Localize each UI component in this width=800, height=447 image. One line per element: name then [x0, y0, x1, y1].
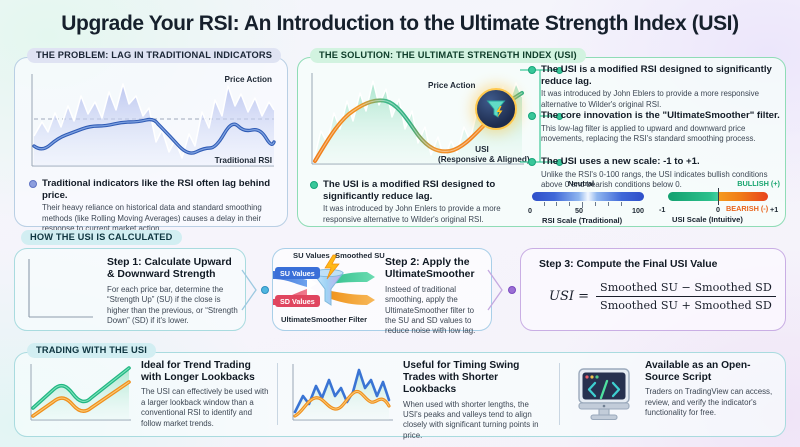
- solution-chart-indicator-sublabel: (Responsive & Aligned): [438, 155, 526, 164]
- usi-scale-bearish-label: BEARISH (-): [726, 204, 768, 213]
- panel-solution: THE SOLUTION: THE ULTIMATE STRENGTH INDE…: [297, 57, 786, 227]
- trading-card-2-head: Useful for Timing Swing Trades with Shor…: [403, 360, 549, 397]
- panel-problem-tag: THE PROBLEM: LAG IN TRADITIONAL INDICATO…: [27, 48, 281, 63]
- usi-formula: USI = Smoothed SU − Smoothed SD Smoothed…: [549, 281, 776, 312]
- step-connector-dot-icon: [261, 286, 269, 294]
- panel-step2: SU Values SU Values SD Values Smoothed S…: [272, 248, 492, 331]
- solution-bullet-2-head: The core innovation is the "UltimateSmoo…: [528, 110, 780, 122]
- usi-scale-bullish-label: BULLISH (+): [737, 179, 780, 188]
- panel-trading-tag: TRADING WITH THE USI: [27, 343, 156, 358]
- bullet-dot-icon: [29, 180, 37, 188]
- bullet-dot-icon: [528, 66, 536, 74]
- solution-bullet-1-body: It was introduced by John Eblers to prov…: [528, 89, 780, 110]
- problem-chart-indicator-label: Traditional RSI: [215, 156, 272, 165]
- solution-chart-indicator-label: USI: [442, 145, 522, 154]
- solution-bullet-2: The core innovation is the "UltimateSmoo…: [528, 110, 780, 144]
- step2-head: Step 2: Apply the UltimateSmoother: [385, 257, 485, 282]
- formula-numerator: Smoothed SU − Smoothed SD: [596, 281, 776, 296]
- funnel-su-outer-label: SU Values: [293, 251, 330, 260]
- trading-card-1-body: The USI can effectively be used with a l…: [141, 387, 269, 428]
- panel-step3: Step 3: Compute the Final USI Value USI …: [520, 248, 786, 331]
- solution-bullet-1-head: The USI is a modified RSI designed to si…: [528, 64, 780, 87]
- trading-card-3: Available as an Open-Source Script Trade…: [571, 360, 783, 419]
- trading-divider-1: [277, 363, 278, 425]
- ultimatesmoother-funnel: SU Values SU Values SD Values Smoothed S…: [271, 253, 381, 329]
- panel-step1: HOW THE USI IS CALCULATED Step 1: Calcul…: [14, 248, 246, 331]
- rsi-scale-caption: RSI Scale (Traditional): [542, 216, 622, 225]
- solution-bullet-1: The USI is a modified RSI designed to si…: [528, 64, 780, 110]
- usi-tick-zero: 0: [716, 205, 720, 214]
- problem-bullet-head: Traditional indicators like the RSI ofte…: [29, 178, 279, 201]
- trading-card-3-head: Available as an Open-Source Script: [645, 360, 783, 384]
- panel-solution-tag: THE SOLUTION: THE ULTIMATE STRENGTH INDE…: [310, 48, 586, 63]
- formula-denominator: Smoothed SU + Smoothed SD: [596, 296, 776, 312]
- problem-chart: Price Action Traditional RSI: [28, 72, 276, 172]
- page-title: Upgrade Your RSI: An Introduction to the…: [0, 12, 800, 36]
- problem-bullet: Traditional indicators like the RSI ofte…: [29, 178, 279, 234]
- usi-scale: BULLISH (+) -1 0 +1 BEARISH (-) USI Scal…: [656, 179, 782, 223]
- funnel-caption: UltimateSmoother Filter: [281, 315, 367, 324]
- step1-body: For each price bar, determine the “Stren…: [107, 285, 239, 326]
- step3-head: Step 3: Compute the Final USI Value: [539, 259, 717, 271]
- step-connector-dot-icon: [508, 286, 516, 294]
- rsi-scale-bar: [532, 192, 644, 201]
- trading-card-2: Useful for Timing Swing Trades with Shor…: [289, 360, 549, 441]
- panel-trading: TRADING WITH THE USI: [14, 352, 786, 437]
- rsi-tick-50: 50: [575, 206, 583, 215]
- code-monitor-icon: [573, 363, 635, 425]
- solution-bullet-3-head: The USI uses a new scale: -1 to +1.: [528, 156, 780, 168]
- trading-card-1-head: Ideal for Trend Trading with Longer Look…: [141, 360, 269, 384]
- step1-card: Step 1: Calculate Upward & Downward Stre…: [107, 257, 239, 326]
- funnel-sd-label: SD Values: [275, 295, 320, 307]
- solution-chart-price-label: Price Action: [428, 81, 475, 90]
- filter-lightning-icon: [475, 88, 517, 130]
- formula-lhs: USI =: [549, 289, 589, 304]
- rsi-tick-0: 0: [528, 206, 532, 215]
- panel-calculated-tag: HOW THE USI IS CALCULATED: [21, 230, 182, 245]
- trading-card-2-body: When used with shorter lengths, the USI'…: [403, 400, 549, 441]
- swing-chart: [289, 362, 395, 428]
- step2-card: Step 2: Apply the UltimateSmoother Inste…: [385, 257, 485, 336]
- trading-divider-2: [559, 363, 560, 425]
- funnel-su-label: SU Values: [275, 267, 320, 279]
- trading-card-3-body: Traders on TradingView can access, revie…: [645, 387, 783, 418]
- trading-card-1: Ideal for Trend Trading with Longer Look…: [27, 360, 269, 429]
- bullet-dot-icon: [528, 158, 536, 166]
- bullet-dot-icon: [310, 181, 318, 189]
- usi-tick-minus1: -1: [659, 205, 665, 214]
- rsi-scale: Neutral 0 50 100 RSI Scale (Traditional): [526, 179, 651, 223]
- step1-axes: [25, 257, 95, 323]
- rsi-tick-100: 100: [632, 206, 644, 215]
- usi-tick-plus1: +1: [770, 205, 778, 214]
- funnel-smoothed-su-label: Smoothed SU: [335, 251, 385, 260]
- step2-body: Insteed of traditional smoothing, apply …: [385, 285, 485, 336]
- solution-inline-bullet-body: It was introduced by John Enlers to prov…: [310, 204, 528, 225]
- solution-bullet-2-body: This low-lag filter is applied to upward…: [528, 124, 780, 145]
- infographic-page: Upgrade Your RSI: An Introduction to the…: [0, 0, 800, 447]
- problem-chart-price-label: Price Action: [225, 75, 272, 84]
- solution-inline-bullet: The USI is a modified RSI designed to si…: [310, 179, 528, 225]
- rsi-scale-neutral-label: Neutral: [568, 179, 594, 188]
- step1-head: Step 1: Calculate Upward & Downward Stre…: [107, 257, 239, 282]
- bullet-dot-icon: [528, 112, 536, 120]
- panel-problem: THE PROBLEM: LAG IN TRADITIONAL INDICATO…: [14, 57, 288, 227]
- trend-chart: [27, 362, 133, 428]
- solution-inline-bullet-head: The USI is a modified RSI designed to si…: [310, 179, 528, 202]
- usi-scale-caption: USI Scale (Intuitive): [672, 215, 743, 224]
